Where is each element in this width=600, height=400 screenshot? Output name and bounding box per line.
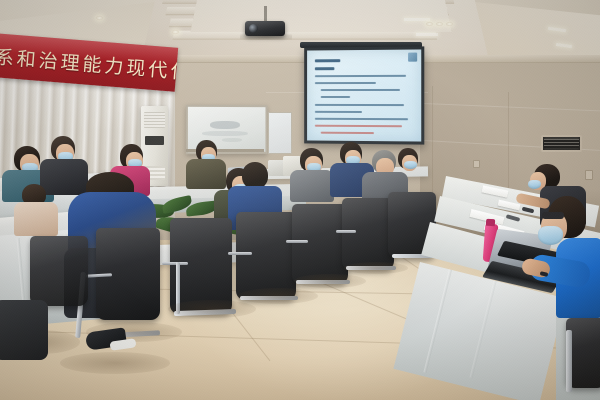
slide-text-line — [321, 132, 374, 134]
chair — [342, 198, 394, 270]
conference-room-photo: Attendees seated at cloth-covered tables… — [0, 0, 600, 400]
floor-shadow — [60, 352, 170, 374]
chair-armrest — [286, 240, 308, 243]
chair-armrest — [162, 262, 188, 265]
chair — [30, 236, 88, 306]
wall-notice-panel — [268, 112, 292, 154]
ac-grille — [144, 112, 165, 128]
slide-text-line — [315, 125, 402, 128]
ceiling-light-strip — [404, 18, 430, 21]
slide-text-line — [315, 75, 406, 77]
chair-armrest — [228, 252, 252, 255]
slide-text-line — [315, 104, 404, 106]
wall-air-vent — [541, 135, 582, 152]
torso — [40, 159, 88, 195]
chair-shadow — [294, 274, 366, 288]
chair — [0, 300, 48, 360]
slide-text-line — [315, 59, 340, 62]
face-mask — [404, 161, 417, 169]
chair-armrest — [336, 230, 356, 233]
torso — [290, 170, 334, 202]
slide-text-line — [315, 67, 335, 70]
ceiling-downlight — [446, 22, 453, 26]
face-mask — [528, 180, 541, 189]
slide-text-line — [315, 118, 408, 120]
wall-panel-seam — [432, 86, 433, 196]
chair-shadow — [168, 300, 256, 318]
torso — [14, 202, 58, 236]
slide-text-line — [315, 111, 362, 113]
ceiling-downlight — [172, 30, 179, 34]
ceiling-coffer-inner — [190, 0, 451, 32]
chair — [292, 204, 348, 284]
head — [242, 162, 268, 189]
chair-shadow — [238, 288, 318, 304]
chair-shadow — [344, 262, 408, 274]
projection-screen-surface — [307, 49, 421, 141]
ceiling-downlight — [96, 16, 103, 20]
bottle-cap — [486, 219, 495, 227]
wall-panel-seam — [508, 92, 509, 192]
wall-socket — [473, 160, 480, 168]
projector-mount — [264, 6, 267, 22]
slide-text-line — [321, 89, 400, 91]
chair-leg — [566, 330, 572, 392]
eyeglasses — [542, 212, 564, 219]
wall-socket — [585, 170, 593, 180]
projector-lens-icon — [249, 24, 258, 33]
ceiling-downlight — [436, 22, 443, 26]
slide-text-block — [307, 49, 421, 50]
slide-logo-icon — [408, 53, 417, 62]
torso — [186, 159, 226, 189]
ac-display-panel — [145, 136, 164, 145]
slide-text-line — [321, 96, 350, 98]
ceiling-light-strip — [416, 33, 438, 36]
chair — [236, 212, 296, 300]
ceiling-downlight — [426, 22, 433, 26]
slide-text-line — [315, 82, 376, 84]
projection-screen — [304, 46, 424, 144]
